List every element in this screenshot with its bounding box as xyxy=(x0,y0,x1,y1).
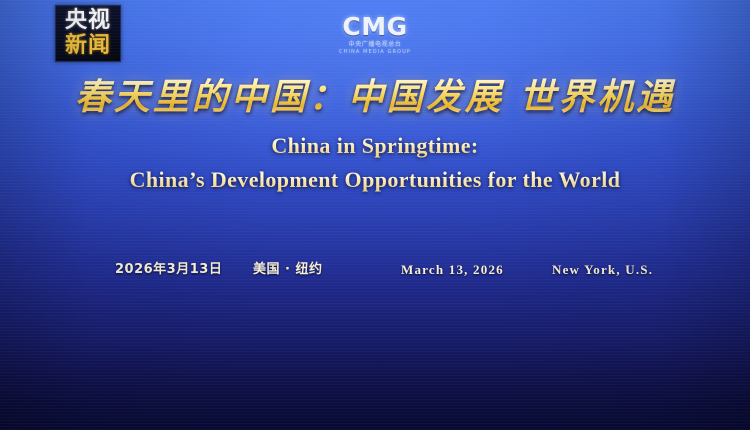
edge-vignette-overlay xyxy=(0,0,750,430)
event-location-english: New York, U.S. xyxy=(552,260,653,280)
english-title-line-1: China in Springtime: xyxy=(0,133,750,159)
english-title-line-2: China’s Development Opportunities for th… xyxy=(0,167,750,193)
chinese-title: 春天里的中国：中国发展 世界机遇 xyxy=(0,76,750,118)
event-meta-row: 2026年3月13日 美国 · 纽约 March 13, 2026 New Yo… xyxy=(0,260,750,280)
event-date-english: March 13, 2026 xyxy=(401,260,504,280)
event-location-chinese: 美国 · 纽约 xyxy=(253,260,323,280)
cctv-logo-line-bottom: 新闻 xyxy=(65,34,111,58)
video-grain-overlay xyxy=(0,0,750,430)
cctv-news-logo: 央视 新闻 xyxy=(55,5,121,62)
title-card-slide: 央视 新闻 CMG 中央广播电视总台 CHINA MEDIA GROUP 春天里… xyxy=(0,0,750,430)
cmg-logo-english-name: CHINA MEDIA GROUP xyxy=(339,49,411,56)
cmg-logo-chinese-name: 中央广播电视总台 xyxy=(349,41,402,49)
cctv-logo-line-top: 央视 xyxy=(65,9,111,33)
event-date-chinese: 2026年3月13日 xyxy=(115,260,222,280)
cmg-logo-mark: CMG xyxy=(342,14,407,40)
